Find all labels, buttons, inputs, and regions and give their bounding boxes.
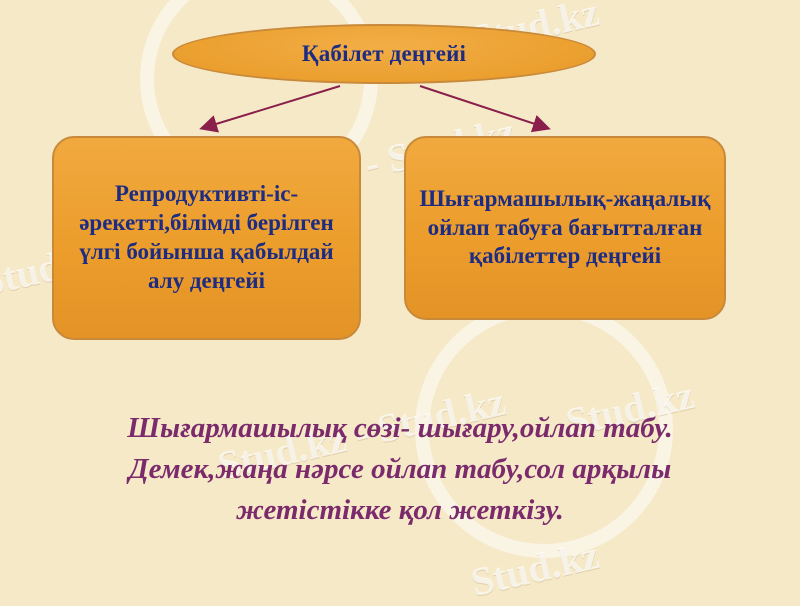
diagram-node-creative: Шығармашылық-жаңалық ойлап табуға бағытт…	[404, 136, 726, 320]
diagram-caption: Шығармашылық сөзі- шығару,ойлап табу. Де…	[60, 408, 740, 532]
diagram-node-creative-label: Шығармашылық-жаңалық ойлап табуға бағытт…	[418, 185, 712, 272]
diagram-node-reproductive-label: Репродуктивті-іс-әрекетті,білімді берілг…	[66, 180, 347, 296]
diagram-node-root-label: Қабілет деңгейі	[302, 41, 466, 67]
diagram-node-reproductive: Репродуктивті-іс-әрекетті,білімді берілг…	[52, 136, 361, 340]
arrow-to-right-node	[420, 86, 547, 128]
diagram-node-root: Қабілет деңгейі	[172, 24, 596, 84]
arrow-to-left-node	[203, 86, 340, 128]
